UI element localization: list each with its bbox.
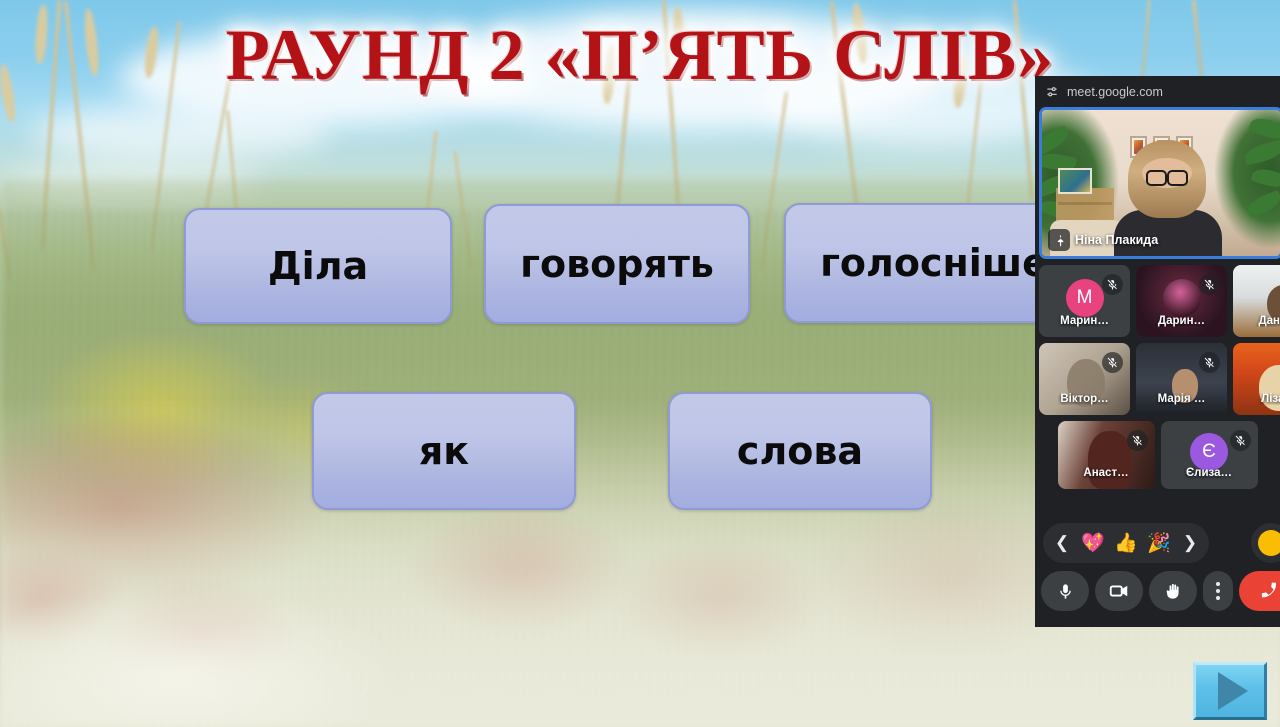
bottom-left-haze [0,507,560,727]
plant-right-icon [1222,118,1280,248]
participant-name: Марія … [1136,393,1227,405]
participant-row: Анаст… Є Єлиза… [1039,421,1276,489]
google-meet-panel[interactable]: meet.google.com [1035,76,1280,627]
main-tile-name: Ніна Плакида [1075,233,1158,247]
slide-stage: РАУНД 2 «П’ЯТЬ СЛІВ» Діла говорять голос… [0,0,1280,727]
microphone-button[interactable] [1041,571,1089,611]
participant-grid: M Марин… Дарин… Да [1035,259,1280,489]
word-box-hovoryat[interactable]: говорять [484,204,750,324]
participant-name: Єлиза… [1161,467,1258,479]
play-triangle-icon [1218,672,1248,710]
play-button[interactable] [1193,662,1267,720]
participant-name: Дани… [1233,315,1280,327]
mic-muted-icon [1102,352,1123,373]
participant-name: Віктор… [1039,393,1130,405]
tune-sliders-icon [1045,85,1059,99]
participant-tile[interactable]: Дарин… [1136,265,1227,337]
participant-row: M Марин… Дарин… Да [1039,265,1276,337]
word-box-label: голосніше [820,241,1048,285]
participant-tile[interactable]: Марія … [1136,343,1227,415]
mic-muted-icon [1199,274,1220,295]
video-camera-icon [1108,580,1130,602]
participant-name: Дарин… [1136,315,1227,327]
avatar [1163,279,1201,317]
word-box-dila[interactable]: Діла [184,208,452,324]
participant-name: Ліза Б [1233,393,1280,405]
meet-url-bar[interactable]: meet.google.com [1035,76,1280,107]
main-speaker-tile[interactable]: Ніна Плакида [1039,107,1280,259]
meet-url-text: meet.google.com [1067,85,1163,99]
participant-tile[interactable]: M Марин… [1039,265,1130,337]
word-box-label: як [419,429,469,473]
word-box-yak[interactable]: як [312,392,576,510]
microphone-icon [1056,582,1075,601]
thumbs-up-icon[interactable]: 👍 [1111,528,1141,558]
mic-muted-icon [1102,274,1123,295]
avatar: M [1066,279,1104,317]
chevron-left-icon[interactable]: ❮ [1049,528,1075,558]
main-tile-name-badge: Ніна Плакида [1048,229,1158,251]
participant-name: Анаст… [1058,467,1155,479]
pin-icon[interactable] [1048,229,1070,251]
participant-tile[interactable]: Ліза Б [1233,343,1280,415]
more-options-button[interactable] [1203,571,1233,611]
emoji-picker-button[interactable] [1251,523,1280,563]
mic-muted-icon [1230,430,1251,451]
end-call-icon [1258,580,1280,602]
word-box-label: слова [737,429,863,473]
participant-row: Віктор… Марія … Ліза Б [1039,343,1276,415]
raise-hand-button[interactable] [1149,571,1197,611]
party-popper-icon[interactable]: 🎉 [1144,528,1174,558]
camera-button[interactable] [1095,571,1143,611]
chevron-right-icon[interactable]: ❯ [1177,528,1203,558]
person-silhouette [1088,431,1132,489]
glasses-icon [1146,170,1188,182]
avatar: Є [1190,433,1228,471]
smiley-face-icon [1258,530,1280,556]
participant-name: Марин… [1039,315,1130,327]
participant-tile[interactable]: Анаст… [1058,421,1155,489]
participant-tile[interactable]: Є Єлиза… [1161,421,1258,489]
reactions-bar[interactable]: ❮ 💖 👍 🎉 ❯ [1043,523,1209,563]
word-box-label: говорять [520,242,714,286]
mic-muted-icon [1127,430,1148,451]
end-call-button[interactable] [1239,571,1280,611]
raised-hand-icon [1164,582,1183,601]
framed-art [1058,168,1092,194]
participant-tile[interactable]: Віктор… [1039,343,1130,415]
mic-muted-icon [1199,352,1220,373]
word-box-label: Діла [268,244,368,288]
more-vertical-icon [1216,582,1220,600]
sparkle-heart-icon[interactable]: 💖 [1078,528,1108,558]
meet-control-bar [1041,571,1280,611]
participant-tile[interactable]: Дани… [1233,265,1280,337]
word-box-slova[interactable]: слова [668,392,932,510]
